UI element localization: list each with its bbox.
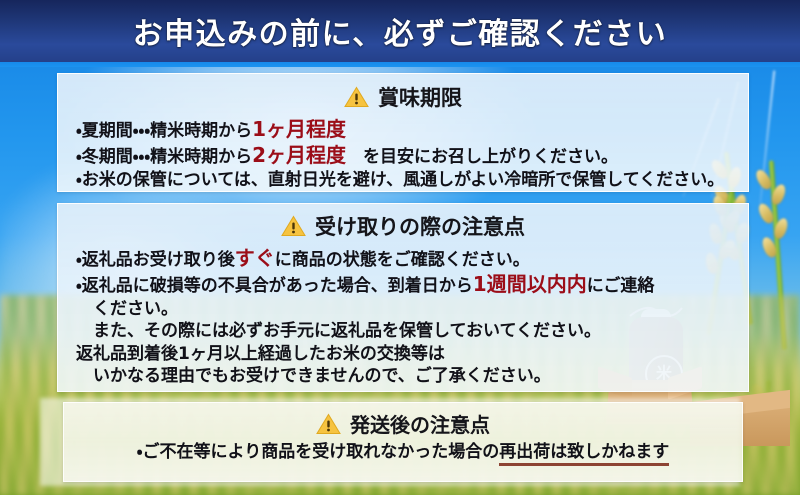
panel-heading: 発送後の注意点 <box>64 409 742 438</box>
panel-body: ・夏期間・・・精米時期から1ヶ月程度・冬期間・・・精米時期から2ヶ月程度 を目安… <box>58 116 748 191</box>
panel-heading: 賞味期限 <box>58 82 748 112</box>
notice-text: いかなる理由でもお受けできませんので、ご了承ください。 <box>76 366 551 386</box>
notice-text-emphasis: 1週間以内内 <box>473 272 587 296</box>
notice-text: ・返礼品お受け取り後 <box>76 250 235 270</box>
notice-text-emphasis: 1ヶ月程度 <box>252 117 346 141</box>
notice-line: ・返礼品お受け取り後すぐに商品の状態をご確認ください。 <box>76 245 734 271</box>
notice-panel-best-before: 賞味期限 ・夏期間・・・精米時期から1ヶ月程度・冬期間・・・精米時期から2ヶ月程… <box>57 73 749 192</box>
notice-panel-on-receipt: 受け取りの際の注意点 ・返礼品お受け取り後すぐに商品の状態をご確認ください。・返… <box>57 203 749 392</box>
page-title: お申込みの前に、必ずご確認ください <box>0 0 800 62</box>
notice-text: 返礼品到着後1ヶ月以上経過したお米の交換等は <box>76 344 445 364</box>
notice-line: また、その際には必ずお手元に返礼品を保管しておいてください。 <box>76 320 734 342</box>
panel-heading-text: 賞味期限 <box>378 82 462 112</box>
notice-line: 返礼品到着後1ヶ月以上経過したお米の交換等は <box>76 343 734 365</box>
notice-text: にご連絡 <box>587 276 655 296</box>
notice-line: ください。 <box>76 298 734 320</box>
notice-text-emphasis: 2ヶ月程度 <box>252 143 346 167</box>
notice-text: ・返礼品に破損等の不具合があった場合、到着日から <box>76 276 473 296</box>
notice-text: ・夏期間・・・精米時期から <box>76 121 252 141</box>
notice-text-emphasis: 再出荷は致しかねます <box>499 442 669 466</box>
notice-line: ・ご不在等により商品を受け取れなかった場合の再出荷は致しかねます <box>78 441 728 463</box>
notice-text: ・お米の保管については、直射日光を避け、風通しがよい冷暗所で保管してください。 <box>76 170 724 190</box>
notice-text: を目安にお召し上がりください。 <box>346 147 618 167</box>
promo-graphic-root: お申込みの前に、必ずご確認ください 米 賞味期限 ・夏期間・・・精米時期か <box>0 0 800 495</box>
notice-panel-after-shipping: 発送後の注意点 ・ご不在等により商品を受け取れなかった場合の再出荷は致しかねます <box>63 402 743 482</box>
panel-body: ・返礼品お受け取り後すぐに商品の状態をご確認ください。・返礼品に破損等の不具合が… <box>58 245 748 388</box>
warning-triangle-icon <box>344 86 369 108</box>
notice-text-emphasis: すぐ <box>235 246 275 270</box>
warning-triangle-icon <box>281 215 306 237</box>
notice-line: ・お米の保管については、直射日光を避け、風通しがよい冷暗所で保管してください。 <box>76 169 734 191</box>
panel-heading-text: 発送後の注意点 <box>350 409 490 438</box>
warning-triangle-icon <box>316 413 341 435</box>
notice-text: ください。 <box>76 299 178 319</box>
notice-line: ・冬期間・・・精米時期から2ヶ月程度 を目安にお召し上がりください。 <box>76 142 734 168</box>
notice-text: に商品の状態をご確認ください。 <box>275 250 530 270</box>
panel-body: ・ご不在等により商品を受け取れなかった場合の再出荷は致しかねます <box>64 441 742 463</box>
notice-line: いかなる理由でもお受けできませんので、ご了承ください。 <box>76 365 734 387</box>
panel-heading: 受け取りの際の注意点 <box>58 211 748 241</box>
notice-text: ・冬期間・・・精米時期から <box>76 147 252 167</box>
header-band: お申込みの前に、必ずご確認ください <box>0 0 800 62</box>
notice-text: また、その際には必ずお手元に返礼品を保管しておいてください。 <box>76 321 601 341</box>
notice-line: ・返礼品に破損等の不具合があった場合、到着日から1週間以内内にご連絡 <box>76 271 734 297</box>
notice-text: ・ご不在等により商品を受け取れなかった場合の <box>137 442 499 462</box>
header-accent-bar <box>0 62 800 67</box>
notice-line: ・夏期間・・・精米時期から1ヶ月程度 <box>76 116 734 142</box>
panel-heading-text: 受け取りの際の注意点 <box>315 211 525 241</box>
